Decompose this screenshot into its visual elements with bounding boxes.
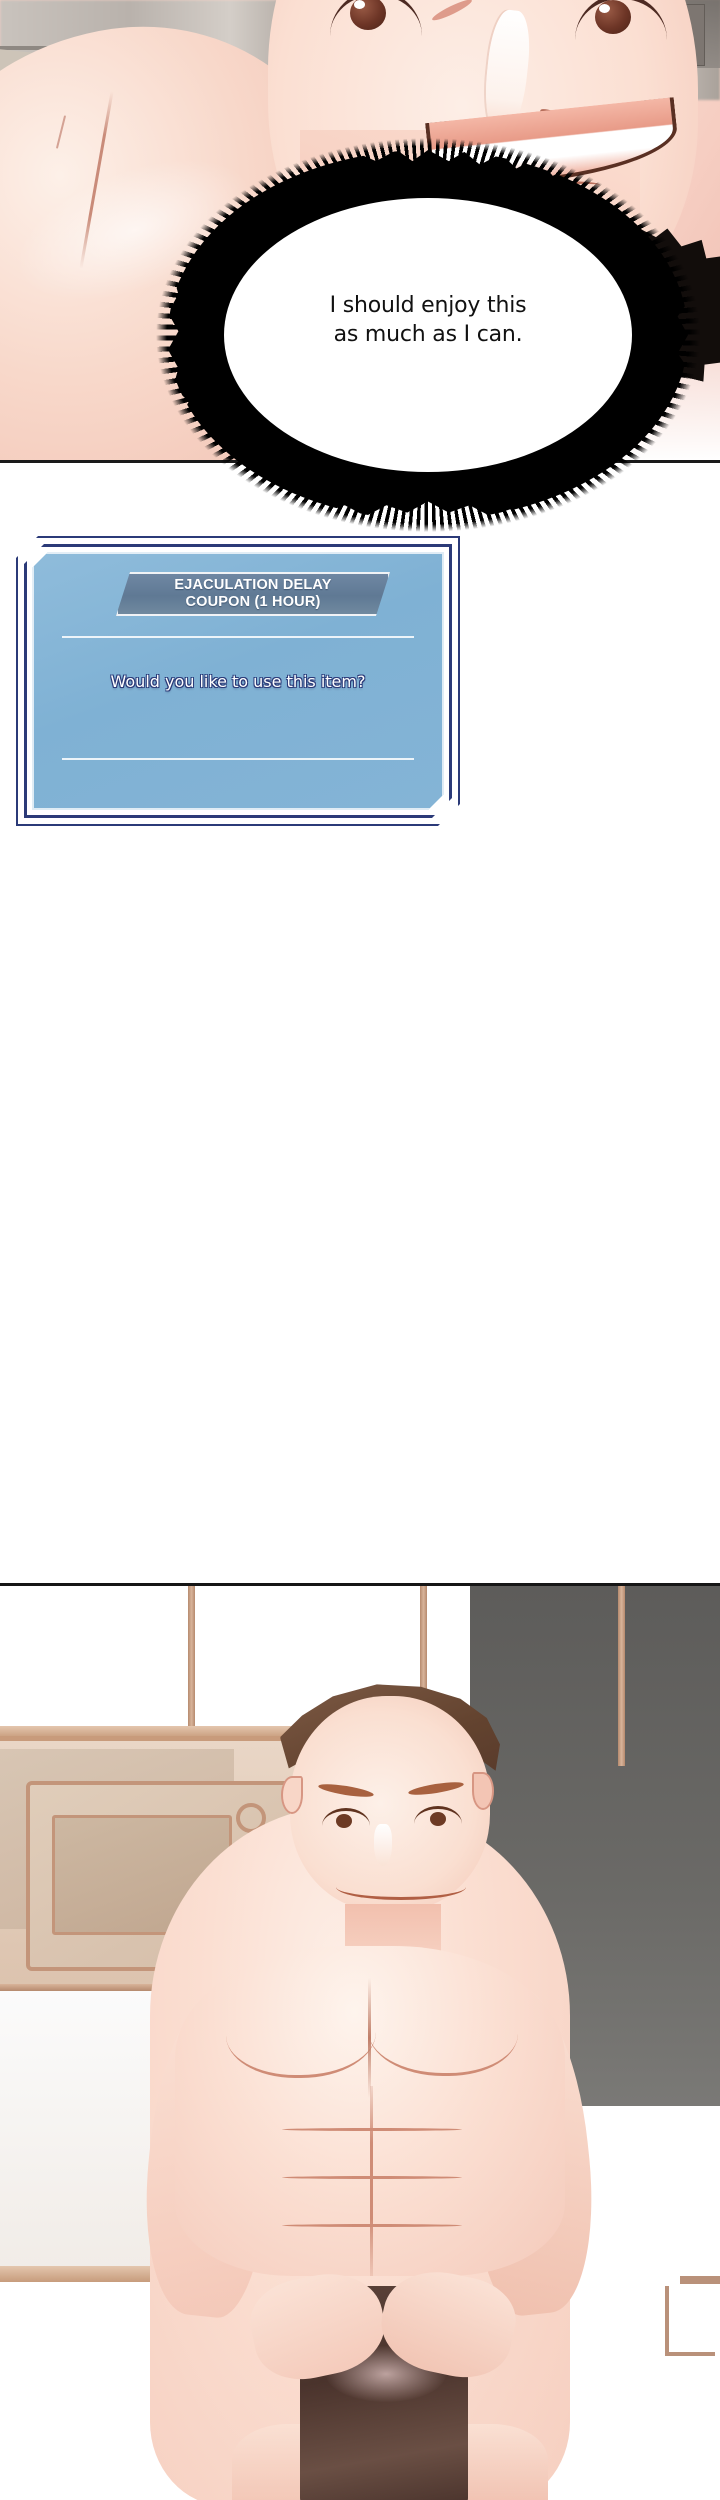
cabinet-frame-line-3 <box>618 1586 625 1766</box>
man-ear-left <box>281 1776 303 1814</box>
right-fixture <box>665 2286 715 2356</box>
man-sternum-line <box>368 1978 371 2098</box>
man-pupil-left <box>336 1814 352 1828</box>
dialog-divider-top <box>62 636 414 638</box>
item-use-dialog[interactable]: EJACULATION DELAY COUPON (1 HOUR) Would … <box>16 536 460 826</box>
speech-bubble-text: I should enjoy this as much as I can. <box>168 292 688 349</box>
man-pectoral-left <box>226 1986 376 2078</box>
man-ab-row-3 <box>282 2224 462 2227</box>
panel-kitchen-muscular-man <box>0 1583 720 2500</box>
man-ab-row-2 <box>282 2176 462 2179</box>
man-nose <box>374 1824 392 1866</box>
dialog-divider-bottom <box>62 758 414 760</box>
pupil-highlight-left <box>354 0 365 9</box>
man-smile <box>336 1874 466 1900</box>
dialog-title: EJACULATION DELAY COUPON (1 HOUR) <box>116 572 390 616</box>
pupil-highlight-right <box>599 4 610 13</box>
man-pectoral-right <box>368 1984 518 2076</box>
dialog-body: EJACULATION DELAY COUPON (1 HOUR) Would … <box>32 552 444 810</box>
dialog-question-text: Would you like to use this item? <box>32 672 444 691</box>
right-fixture-top <box>680 2276 720 2284</box>
man-ab-row-1 <box>282 2128 462 2131</box>
speech-bubble: I should enjoy this as much as I can. <box>168 150 688 520</box>
pupil-right <box>595 0 631 34</box>
man-abdominals <box>282 2086 462 2276</box>
man-pupil-right <box>430 1812 446 1826</box>
eye-right <box>575 0 667 40</box>
man-linea-alba <box>370 2086 373 2276</box>
panel-gutter <box>0 1280 720 1583</box>
eye-left <box>330 0 422 36</box>
comic-page: I should enjoy this as much as I can. EJ… <box>0 0 720 2500</box>
man-ear-right <box>472 1772 494 1810</box>
